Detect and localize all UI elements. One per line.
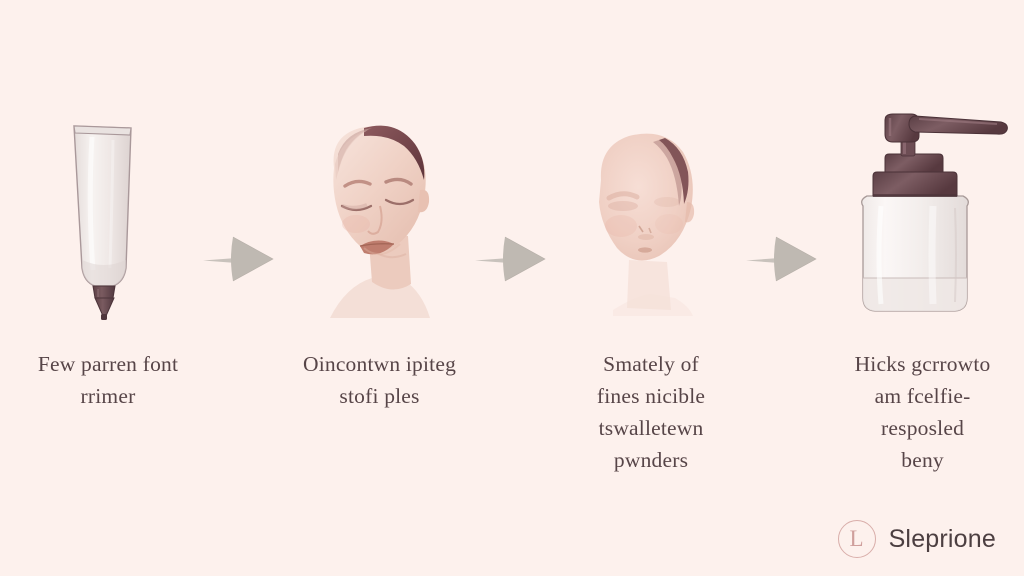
step-2: Oincontwn ipiteg stofi ples	[272, 0, 481, 480]
step-3-caption: Smately of fines nicible tswalletewn pwn…	[543, 348, 759, 476]
caption-line: resposled	[815, 412, 1024, 444]
step-1-illustration	[0, 110, 216, 325]
arrow-right-icon	[746, 232, 822, 286]
caption-line: fines nicible	[543, 380, 759, 412]
step-2-caption: Oincontwn ipiteg stofi ples	[272, 348, 488, 412]
step-1-caption: Few parren font rrimer	[0, 348, 216, 412]
circle-monogram-icon: L	[838, 520, 876, 558]
caption-line: am fcelfie-	[815, 380, 1024, 412]
caption-line: Oincontwn ipiteg	[272, 348, 488, 380]
step-4-illustration	[815, 110, 1024, 325]
caption-line: Hicks gcrrowto	[815, 348, 1024, 380]
cosmetic-tube-icon	[0, 110, 216, 325]
caption-line: pwnders	[543, 444, 759, 476]
caption-line: Few parren font	[0, 348, 216, 380]
caption-line: stofi ples	[272, 380, 488, 412]
step-4-caption: Hicks gcrrowto am fcelfie- resposled ben…	[815, 348, 1024, 476]
step-2-illustration	[272, 110, 488, 325]
infographic-canvas: Few parren font rrimer	[0, 0, 1024, 576]
arrow-right-icon	[475, 232, 551, 286]
step-3-illustration	[543, 110, 759, 325]
steps-row: Few parren font rrimer	[0, 0, 1024, 480]
caption-line: tswalletewn	[543, 412, 759, 444]
face-faded-icon	[543, 110, 759, 325]
brand-name: Sleprione	[889, 525, 996, 554]
caption-line: rrimer	[0, 380, 216, 412]
pump-bottle-icon	[815, 110, 1024, 325]
caption-line: Smately of	[543, 348, 759, 380]
arrow-cell-2	[481, 0, 543, 480]
step-3: Smately of fines nicible tswalletewn pwn…	[543, 0, 752, 480]
caption-line: beny	[815, 444, 1024, 476]
arrow-cell-1	[209, 0, 271, 480]
step-4: Hicks gcrrowto am fcelfie- resposled ben…	[815, 0, 1024, 480]
brand-lockup: L Sleprione	[838, 520, 996, 558]
arrow-cell-3	[752, 0, 814, 480]
brand-monogram: L	[850, 527, 864, 550]
arrow-right-icon	[203, 232, 279, 286]
face-eyes-closed-icon	[272, 110, 488, 325]
step-1: Few parren font rrimer	[0, 0, 209, 480]
